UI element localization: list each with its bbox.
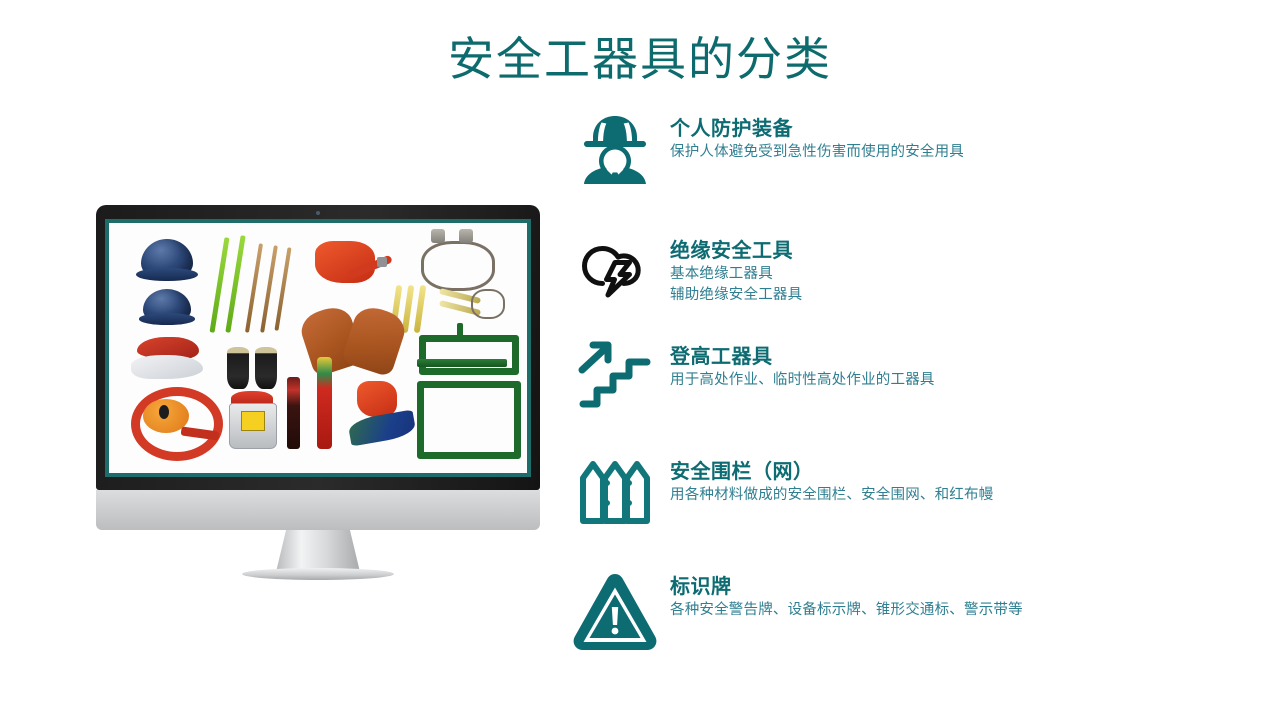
insulating-boot-1 [227, 347, 249, 389]
list-item-personal-protective-equipment[interactable]: 个人防护装备 保护人体避免受到急性伤害而使用的安全用具 [560, 112, 1260, 188]
stairs-arrow-up-icon [560, 340, 670, 412]
electrical-hazard-sign [241, 411, 265, 431]
list-item-desc: 用于高处作业、临时性高处作业的工器具 [670, 370, 935, 391]
grounding-clamp-2 [459, 229, 473, 243]
monitor-screen [105, 219, 531, 477]
fence-icon [560, 455, 670, 529]
grounding-cable-coil [471, 289, 505, 319]
safety-belt-reel-knob [159, 405, 169, 419]
list-item-desc: 保护人体避免受到急性伤害而使用的安全用具 [670, 142, 964, 163]
safety-harness-red [315, 241, 375, 283]
list-item-text: 登高工器具 用于高处作业、临时性高处作业的工器具 [670, 340, 935, 391]
list-item-insulating-safety-tools[interactable]: 绝缘安全工具 基本绝缘工器具 辅助绝缘安全工器具 [560, 234, 1260, 306]
insulating-boot-2 [255, 347, 277, 389]
warning-triangle-icon [560, 570, 670, 654]
safety-sling-blue [347, 409, 417, 446]
safety-barrier-frame-top [419, 335, 519, 375]
monitor-bezel [96, 205, 540, 490]
list-item-title: 绝缘安全工具 [670, 238, 802, 264]
hard-hat-blue-1 [141, 239, 193, 279]
insulating-glove-right [341, 302, 410, 377]
list-item-desc: 各种安全警告牌、设备标示牌、锥形交通标、警示带等 [670, 600, 1023, 621]
webcam-icon [316, 211, 320, 215]
list-item-climbing-tools[interactable]: 登高工器具 用于高处作业、临时性高处作业的工器具 [560, 340, 1260, 412]
insulating-rod-brown-1 [245, 243, 263, 333]
list-item-title: 个人防护装备 [670, 116, 964, 142]
voltage-detector-dark [287, 377, 300, 449]
safety-equipment-photo-collage [109, 223, 527, 473]
insulating-rod-green-2 [225, 235, 245, 333]
list-item-title: 标识牌 [670, 574, 1023, 600]
safety-barrier-post [457, 323, 463, 339]
grounding-wire-loop [421, 241, 495, 291]
list-item-desc-line-1: 基本绝缘工器具 [670, 264, 802, 285]
page-title: 安全工器具的分类 [0, 30, 1280, 88]
worker-helmet-icon [560, 112, 670, 188]
voltage-detector-red [317, 357, 332, 449]
cloud-lightning-icon [560, 234, 670, 300]
insulating-rod-brown-3 [274, 247, 291, 331]
monitor-chin [96, 490, 540, 530]
list-item-safety-fence[interactable]: 安全围栏（网） 用各种材料做成的安全围栏、安全围网、和红布幔 [560, 455, 1260, 529]
list-item-signage[interactable]: 标识牌 各种安全警告牌、设备标示牌、锥形交通标、警示带等 [560, 570, 1260, 654]
monitor-stand-neck [276, 530, 360, 572]
list-item-title: 安全围栏（网） [670, 459, 993, 485]
grounding-clamp-1 [431, 229, 445, 243]
safety-sling-orange [357, 381, 397, 417]
harness-buckle [377, 257, 387, 267]
monitor-illustration [96, 205, 540, 580]
list-item-title: 登高工器具 [670, 344, 935, 370]
list-item-desc-line-2: 辅助绝缘安全工器具 [670, 285, 802, 306]
list-item-desc: 用各种材料做成的安全围栏、安全围网、和红布幔 [670, 485, 993, 506]
safety-barrier-plate [417, 359, 507, 367]
list-item-text: 安全围栏（网） 用各种材料做成的安全围栏、安全围网、和红布幔 [670, 455, 993, 506]
list-item-text: 标识牌 各种安全警告牌、设备标示牌、锥形交通标、警示带等 [670, 570, 1023, 621]
list-item-text: 绝缘安全工具 基本绝缘工器具 辅助绝缘安全工器具 [670, 234, 802, 306]
safety-barrier-frame-bottom [417, 381, 521, 459]
monitor-stand-base [242, 568, 394, 580]
insulating-shoe-white [131, 355, 203, 379]
list-item-text: 个人防护装备 保护人体避免受到急性伤害而使用的安全用具 [670, 112, 964, 163]
voltage-detector-yellow-3 [414, 285, 427, 333]
hard-hat-blue-2 [143, 289, 191, 323]
